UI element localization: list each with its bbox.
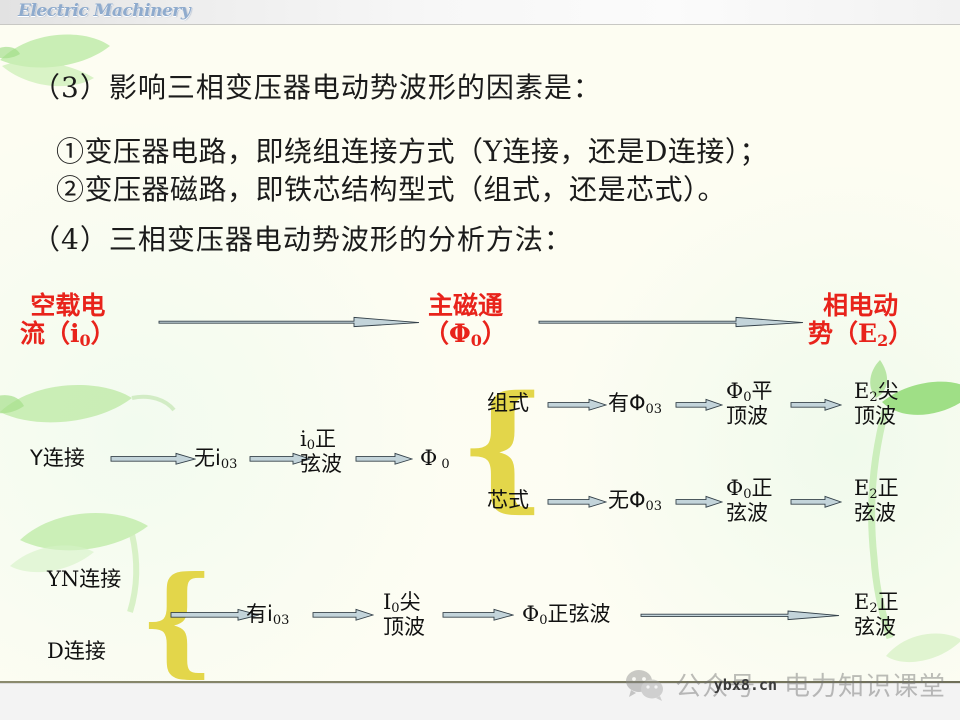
arrow-shell-to-has-phi03 (547, 398, 607, 412)
flow-node-phi0-sine-line1: Φ0正 (726, 477, 773, 502)
arrow-has-i03-to-i0-peak (312, 608, 374, 622)
flow-node-y-connect: Y连接 (30, 447, 85, 470)
red-node-3-line2: 势（E2） (808, 320, 913, 350)
red-node-3-line1: 相电动 (808, 292, 913, 320)
flow-node-phi0-flat-line2: 顶波 (726, 405, 773, 427)
heading-item-4: （4）三相变压器电动势波形的分析方法： (32, 218, 573, 258)
flow-node-d-connect: D连接 (47, 640, 106, 663)
watermark: 公众号 · 电力知识课堂 (624, 666, 946, 703)
bullet-item-3-2: ②变压器磁路，即铁芯结构型式（组式，还是芯式）。 (56, 168, 726, 208)
needle-arrow-current-to-flux (158, 315, 420, 329)
arrow-no-phi03-to-phi0-sine (675, 495, 723, 509)
flow-node-i0-sine-wave: i0正 弦波 (300, 428, 342, 475)
flow-node-i0-peak-line2: 顶波 (383, 616, 425, 638)
flow-node-i0-sine-line1: i0正 (300, 428, 342, 453)
flow-node-has-i03: 有i03 (246, 603, 289, 628)
flow-node-e2-sine-line2: 弦波 (854, 502, 899, 524)
slide-canvas: Electric Machinery （3）影响三相变压器电动势波形的因素是： … (0, 0, 960, 720)
leaf-decoration-left-lower (10, 500, 230, 620)
flow-node-phi0-sine-line2: 弦波 (726, 502, 773, 524)
heading-item-3: （3）影响三相变压器电动势波形的因素是： (32, 66, 602, 106)
red-node-no-load-current: 空载电 流（i0） (20, 292, 116, 349)
flow-node-e2-sine-bottom: E2正 弦波 (854, 591, 899, 638)
arrow-has-phi03-to-flat-top (675, 398, 723, 412)
arrow-phi0-sine-to-e2-sine (790, 495, 842, 509)
flow-node-phi0-sine: Φ0正 弦波 (726, 477, 773, 524)
flow-node-has-phi03: 有Φ03 (608, 392, 662, 417)
flow-node-phi0: Φ 0 (420, 447, 450, 472)
flow-node-core-type: 芯式 (487, 489, 529, 512)
red-node-main-flux: 主磁通 （Φ0） (424, 292, 507, 349)
arrow-y-to-no-i03 (110, 452, 196, 466)
red-node-2-line2: （Φ0） (424, 320, 507, 350)
flow-node-i0-peak-line1: I0尖 (383, 591, 425, 616)
red-node-1-line2: 流（i0） (20, 320, 116, 350)
flow-node-phi0-flat-top: Φ0平 顶波 (726, 380, 773, 427)
needle-arrow-flux-to-emf (538, 315, 804, 329)
flow-node-phi0-flat-line1: Φ0平 (726, 380, 773, 405)
flow-node-i0-peak-top: I0尖 顶波 (383, 591, 425, 638)
flow-node-e2-peak-top: E2尖 顶波 (854, 380, 899, 427)
flow-node-e2-sine: E2正 弦波 (854, 477, 899, 524)
watermark-url: ybx8.cn (714, 676, 777, 694)
flow-node-e2-peak-line1: E2尖 (854, 380, 899, 405)
app-title: Electric Machinery (18, 1, 190, 21)
red-node-phase-emf: 相电动 势（E2） (808, 292, 913, 349)
flow-node-shell-type: 组式 (487, 392, 529, 415)
arrow-core-to-no-phi03 (547, 495, 607, 509)
flow-node-yn-connect: YN连接 (47, 568, 121, 591)
flow-node-no-i03: 无i03 (194, 447, 237, 472)
flow-node-e2-sine-bottom-line2: 弦波 (854, 616, 899, 638)
flow-node-e2-peak-line2: 顶波 (854, 405, 899, 427)
flow-node-no-phi03: 无Φ03 (608, 489, 662, 514)
flow-node-i0-sine-line2: 弦波 (300, 453, 342, 475)
arrow-i0-sine-to-phi0 (355, 452, 413, 466)
flow-node-e2-sine-bottom-line1: E2正 (854, 591, 899, 616)
flow-node-e2-sine-line1: E2正 (854, 477, 899, 502)
needle-arrow-phi0-to-e2-bottom (640, 609, 840, 623)
bullet-item-3-1: ①变压器电路，即绕组连接方式（Y连接，还是D连接）； (56, 130, 768, 170)
wechat-icon (624, 668, 666, 702)
red-node-2-line1: 主磁通 (424, 292, 507, 320)
arrow-flat-top-to-e2-peak (790, 398, 842, 412)
flow-node-phi0-sine-wide: Φ0正弦波 (522, 603, 611, 628)
red-node-1-line1: 空载电 (20, 292, 116, 320)
arrow-i0-peak-to-phi0-sine-wide (442, 608, 514, 622)
